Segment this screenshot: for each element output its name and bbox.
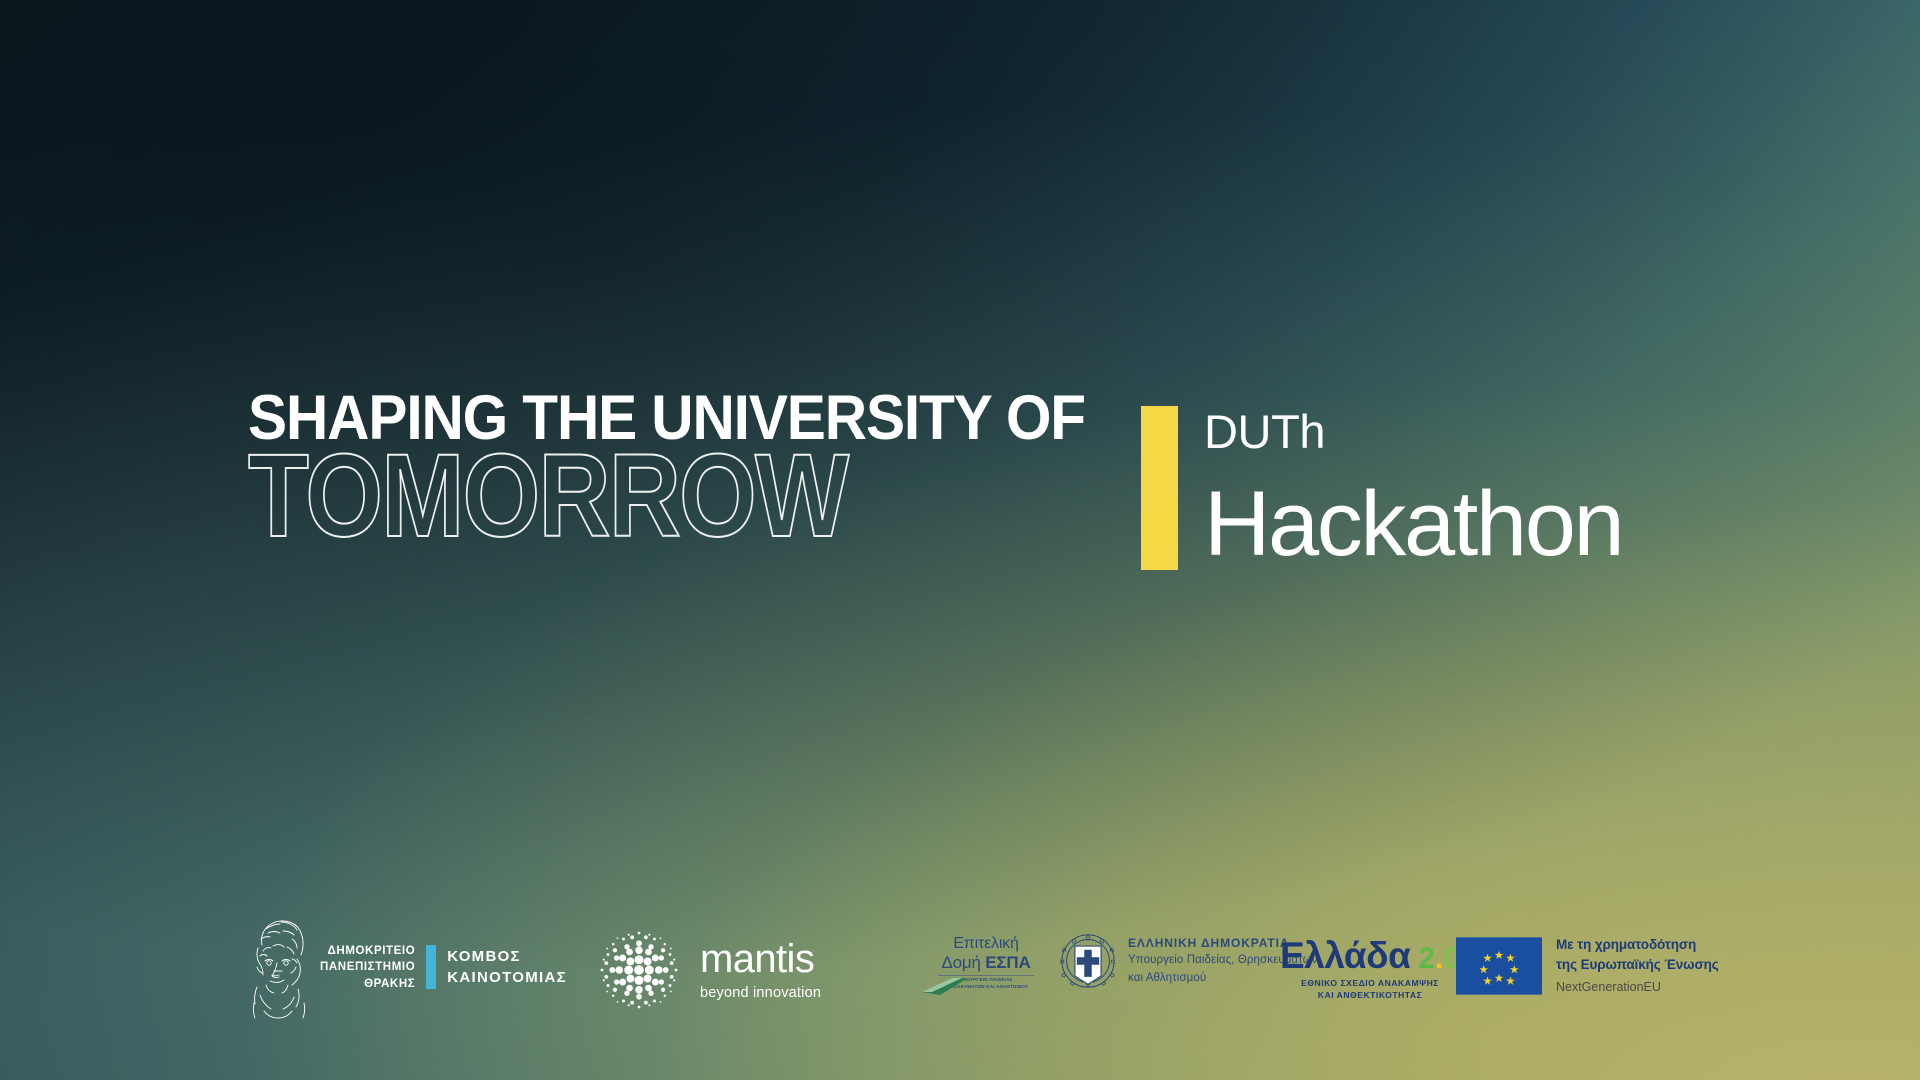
headline-line-2-outlined: TOMORROW xyxy=(248,442,1008,551)
duth-wordmark: ΔΗΜΟΚΡΙΤΕΙΟ ΠΑΝΕΠΙΣΤΗΜΙΟ ΘΡΑΚΗΣ ΚΟΜΒΟΣ Κ… xyxy=(320,943,567,992)
duth-unit-line-2: ΚΑΙΝΟΤΟΜΙΑΣ xyxy=(447,967,567,989)
espa-inner: Επιτελική Δομή ΕΣΠΑ ΥΠΟΥΡΓΕΙΟ ΠΑΙΔΕΙΑΣ Θ… xyxy=(938,935,1034,993)
logo-ellada-2-0: Ελλάδα 2.0 ΕΘΝΙΚΟ ΣΧΕΔΙΟ ΑΝΑΚΑΜΨΗΣ ΚΑΙ Α… xyxy=(1280,937,1460,1001)
duth-unit-line-1: ΚΟΜΒΟΣ xyxy=(447,946,567,968)
ellada-sub-line-1: ΕΘΝΙΚΟ ΣΧΕΔΙΟ ΑΝΑΚΑΜΨΗΣ xyxy=(1301,977,1439,989)
yellow-accent-bar xyxy=(1141,406,1178,570)
logo-european-union: Με τη χρηματοδότηση της Ευρωπαϊκής Ένωση… xyxy=(1456,935,1719,996)
eu-text: Με τη χρηματοδότηση της Ευρωπαϊκής Ένωση… xyxy=(1556,935,1719,996)
eu-line-3: NextGenerationEU xyxy=(1556,978,1719,997)
espa-line-1: Επιτελική xyxy=(938,935,1034,953)
logo-mantis: mantis beyond innovation xyxy=(596,927,821,1013)
event-subtitle: DUTh xyxy=(1204,408,1622,455)
sponsor-logo-strip: ΔΗΜΟΚΡΙΤΕΙΟ ΠΑΝΕΠΙΣΤΗΜΙΟ ΘΡΑΚΗΣ ΚΟΜΒΟΣ Κ… xyxy=(0,905,1920,1035)
duth-name-line-3: ΘΡΑΚΗΣ xyxy=(320,976,415,992)
duth-name-line-2: ΠΑΝΕΠΙΣΤΗΜΙΟ xyxy=(320,959,415,975)
eu-line-1: Με τη χρηματοδότηση xyxy=(1556,935,1719,955)
duth-unit-name: ΚΟΜΒΟΣ ΚΑΙΝΟΤΟΜΙΑΣ xyxy=(447,946,567,990)
logo-duth-innovation-hub: ΔΗΜΟΚΡΙΤΕΙΟ ΠΑΝΕΠΙΣΤΗΜΙΟ ΘΡΑΚΗΣ ΚΟΜΒΟΣ Κ… xyxy=(248,915,567,1020)
duth-university-name: ΔΗΜΟΚΡΙΤΕΙΟ ΠΑΝΕΠΙΣΤΗΜΙΟ ΘΡΑΚΗΣ xyxy=(320,943,415,992)
logo-hellenic-republic: ΕΛΛΗΝΙΚΗ ΔΗΜΟΚΡΑΤΙΑ Υπουργείο Παιδείας, … xyxy=(1060,933,1318,989)
event-title: Hackathon xyxy=(1204,478,1622,570)
ellada-version: 2.0 xyxy=(1418,944,1460,974)
mantis-wordmark: mantis xyxy=(700,939,821,979)
espa-swoosh-icon xyxy=(922,976,970,996)
espa-line-2-light: Δομή xyxy=(941,953,985,972)
espa-line-2: Δομή ΕΣΠΑ xyxy=(938,953,1034,973)
ellada-version-two: 2 xyxy=(1418,942,1435,975)
democritus-bust-icon xyxy=(248,915,310,1020)
mantis-text: mantis beyond innovation xyxy=(700,939,821,1001)
european-union-flag-icon xyxy=(1456,937,1542,995)
ellada-sub-line-2: ΚΑΙ ΑΝΘΕΚΤΙΚΟΤΗΤΑΣ xyxy=(1318,989,1422,1001)
mantis-tagline: beyond innovation xyxy=(700,985,821,1001)
logo-espa: Επιτελική Δομή ΕΣΠΑ ΥΠΟΥΡΓΕΙΟ ΠΑΙΔΕΙΑΣ Θ… xyxy=(938,935,1034,993)
event-title-text: DUTh Hackathon xyxy=(1204,406,1622,570)
event-title-lockup: DUTh Hackathon xyxy=(1141,406,1622,570)
hellenic-republic-emblem-icon xyxy=(1060,933,1116,989)
espa-line-2-bold: ΕΣΠΑ xyxy=(985,953,1030,972)
eu-line-2: της Ευρωπαϊκής Ένωσης xyxy=(1556,955,1719,975)
duth-separator-bar xyxy=(426,945,436,989)
duth-name-line-1: ΔΗΜΟΚΡΙΤΕΙΟ xyxy=(320,943,415,959)
ellada-word: Ελλάδα xyxy=(1280,937,1410,974)
headline-block: SHAPING THE UNIVERSITY OF TOMORROW xyxy=(248,390,1148,551)
mantis-dot-mark-icon xyxy=(596,927,682,1013)
ellada-wordmark-row: Ελλάδα 2.0 xyxy=(1280,937,1460,974)
